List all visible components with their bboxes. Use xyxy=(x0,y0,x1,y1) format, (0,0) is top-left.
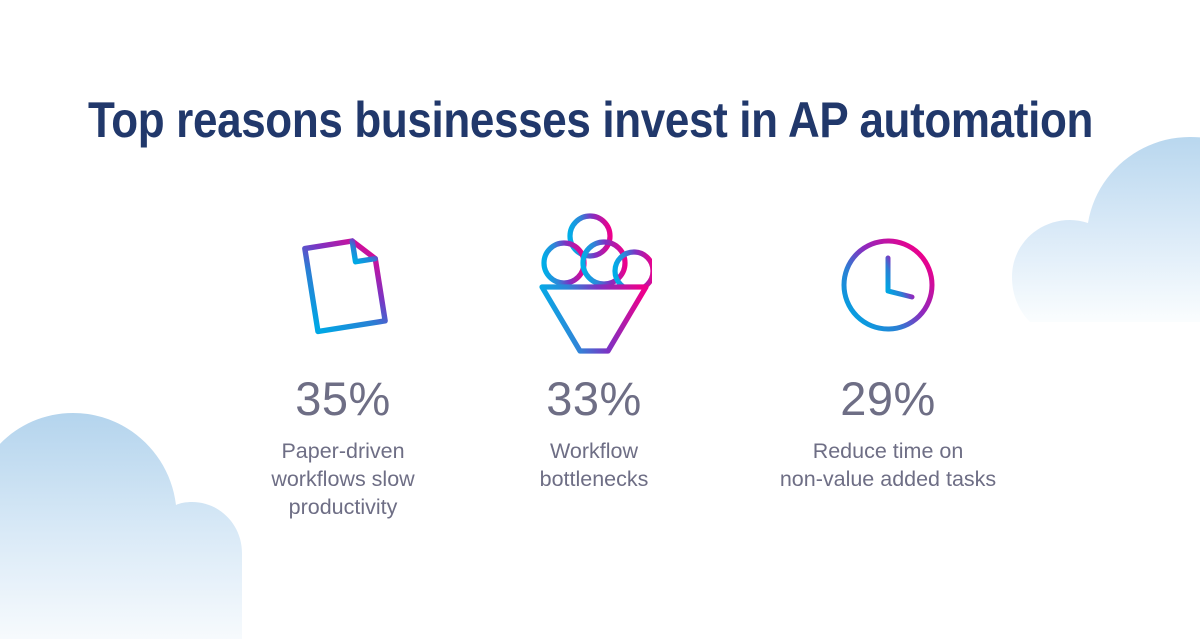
stat-caption: Workflow bottlenecks xyxy=(540,437,649,493)
stat-percent: 35% xyxy=(295,374,391,424)
page-title: Top reasons businesses invest in AP auto… xyxy=(88,92,1021,148)
document-icon xyxy=(291,227,395,343)
stat-item-reduce-time: 29% Reduce time on non-value added tasks xyxy=(738,210,1038,493)
stat-caption: Reduce time on non-value added tasks xyxy=(780,437,996,493)
stats-row: 35% Paper-driven workflows slow producti… xyxy=(0,210,1200,521)
icon-container xyxy=(536,210,652,360)
funnel-icon xyxy=(536,213,652,357)
stat-percent: 29% xyxy=(840,374,936,424)
icon-container xyxy=(291,210,395,360)
infographic-canvas: Top reasons businesses invest in AP auto… xyxy=(0,0,1200,639)
stat-caption: Paper-driven workflows slow productivity xyxy=(271,437,414,521)
stat-item-paper-driven: 35% Paper-driven workflows slow producti… xyxy=(218,210,468,521)
icon-container xyxy=(839,210,937,360)
stat-item-workflow-bottlenecks: 33% Workflow bottlenecks xyxy=(474,210,714,493)
clock-icon xyxy=(839,236,937,334)
stat-percent: 33% xyxy=(546,374,642,424)
